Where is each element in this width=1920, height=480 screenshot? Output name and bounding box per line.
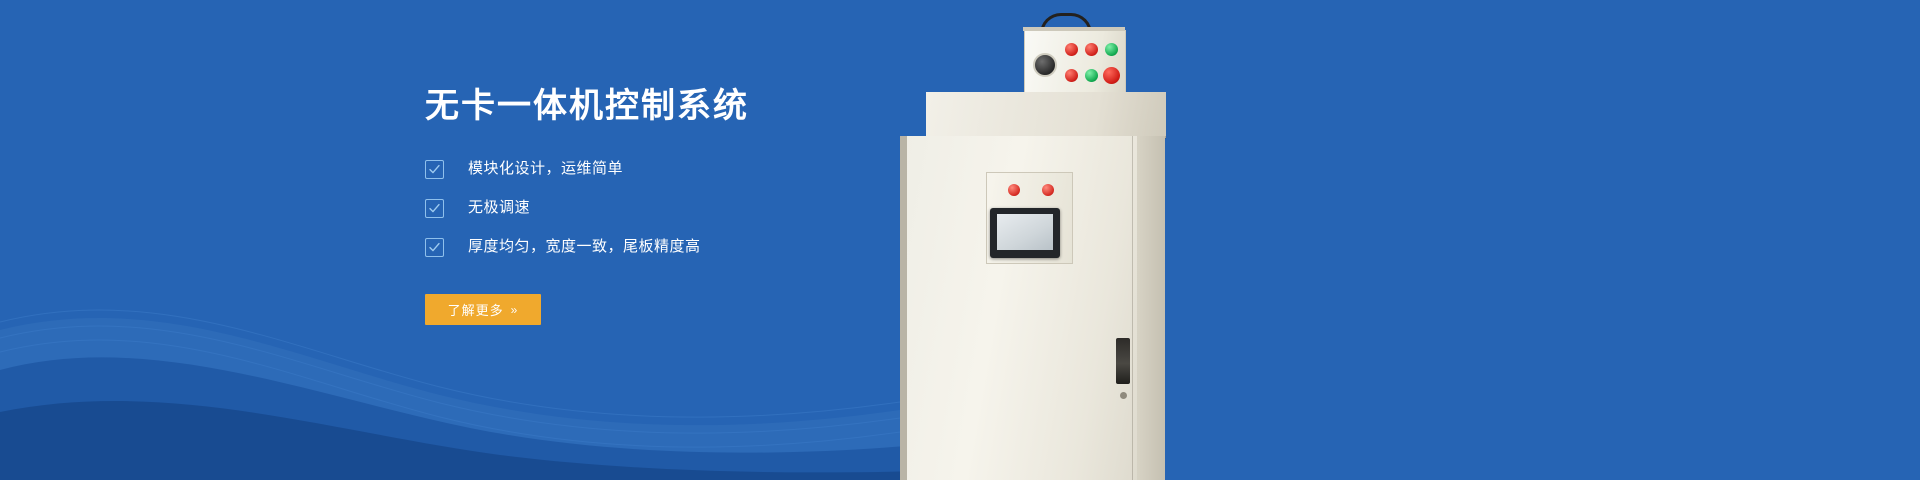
panel-button-green-2 bbox=[1085, 69, 1098, 82]
panel-button-green-1 bbox=[1105, 43, 1118, 56]
panel-button-red-2 bbox=[1085, 43, 1098, 56]
learn-more-button[interactable]: 了解更多 » bbox=[425, 294, 541, 325]
rotary-knob-icon bbox=[1033, 53, 1057, 77]
chevron-right-icon: » bbox=[511, 303, 519, 317]
panel-button-red-3 bbox=[1065, 69, 1078, 82]
learn-more-label: 了解更多 bbox=[448, 300, 504, 319]
panel-button-red-big bbox=[1103, 67, 1120, 84]
door-handle bbox=[1116, 338, 1130, 384]
feature-label: 模块化设计，运维简单 bbox=[468, 159, 623, 179]
indicator-light-right bbox=[1042, 184, 1054, 196]
feature-label: 厚度均匀，宽度一致，尾板精度高 bbox=[468, 237, 701, 257]
top-control-panel bbox=[1024, 30, 1126, 96]
hero-banner: 无卡一体机控制系统 模块化设计，运维简单 无极调速 bbox=[0, 0, 1920, 480]
cabinet-door-seam bbox=[1132, 136, 1133, 480]
cabinet-top-cap bbox=[926, 92, 1166, 138]
hmi-touchscreen bbox=[997, 214, 1053, 250]
product-photo bbox=[900, 0, 1260, 480]
feature-label: 无极调速 bbox=[468, 198, 530, 218]
check-icon bbox=[425, 238, 444, 257]
check-icon bbox=[425, 160, 444, 179]
cabinet-left-edge bbox=[900, 136, 907, 480]
indicator-light-left bbox=[1008, 184, 1020, 196]
check-icon bbox=[425, 199, 444, 218]
panel-button-red-1 bbox=[1065, 43, 1078, 56]
door-lock-icon bbox=[1120, 392, 1127, 399]
